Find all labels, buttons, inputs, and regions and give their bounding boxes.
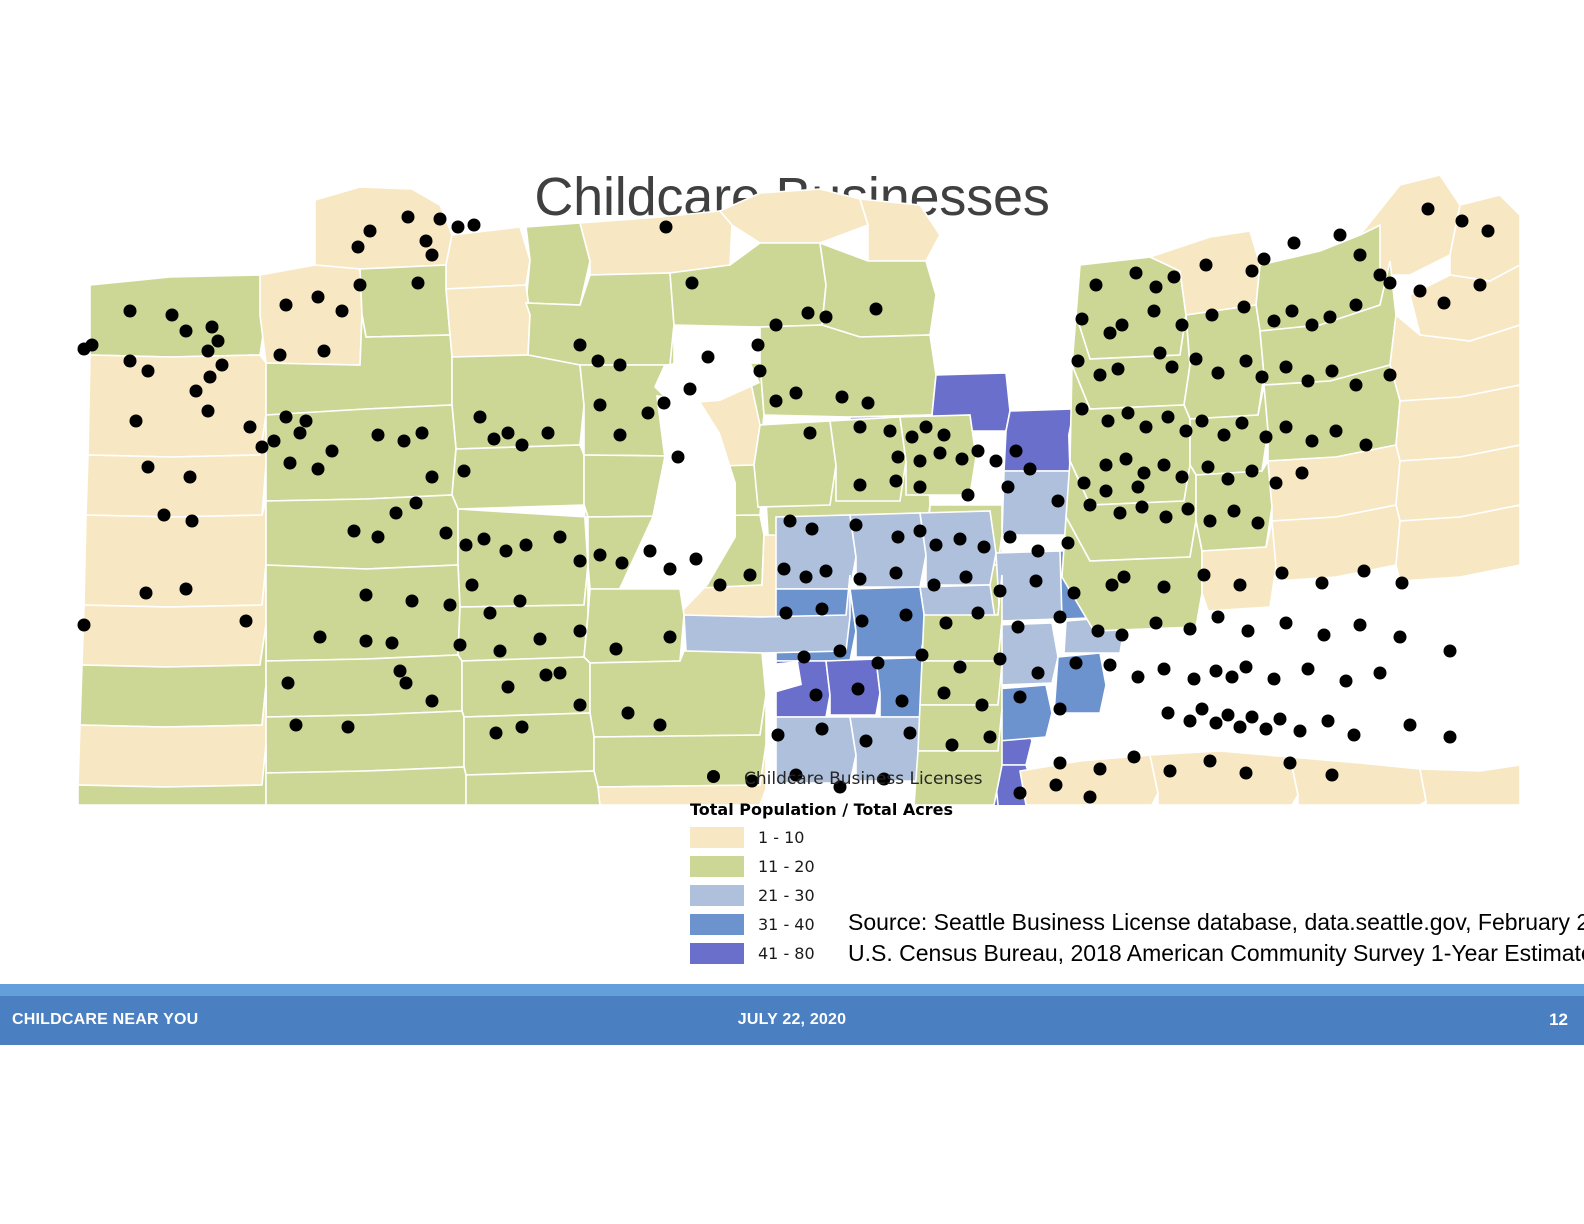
childcare-license-dot-icon xyxy=(707,770,720,783)
legend-label-1-10: 1 - 10 xyxy=(758,828,804,847)
legend-row-class-1: 1 - 10 xyxy=(690,823,1110,852)
legend-swatch-41-80 xyxy=(690,943,744,964)
legend-swatch-11-20 xyxy=(690,856,744,877)
legend-heading: Total Population / Total Acres xyxy=(690,800,1110,819)
source-note: Source: Seattle Business License databas… xyxy=(848,907,1548,969)
legend-row-class-3: 21 - 30 xyxy=(690,881,1110,910)
legend-swatch-31-40 xyxy=(690,914,744,935)
legend-row-class-2: 11 - 20 xyxy=(690,852,1110,881)
legend-swatch-21-30 xyxy=(690,885,744,906)
legend-label-11-20: 11 - 20 xyxy=(758,857,815,876)
map-svg xyxy=(60,165,1520,805)
slide-canvas: Childcare Businesses xyxy=(0,0,1584,1224)
legend-swatch-1-10 xyxy=(690,827,744,848)
legend-label-41-80: 41 - 80 xyxy=(758,944,815,963)
footer-page-number: 12 xyxy=(1549,1010,1568,1030)
footer-deck-title: CHILDCARE NEAR YOU xyxy=(12,1011,198,1029)
legend-label-21-30: 21 - 30 xyxy=(758,886,815,905)
legend-point-label: Childcare Business Licenses xyxy=(744,769,982,789)
legend-point-row: Childcare Business Licenses xyxy=(690,764,1110,794)
source-note-line-1: Source: Seattle Business License databas… xyxy=(848,907,1548,938)
legend-point-swatch xyxy=(690,770,736,788)
source-note-line-2: U.S. Census Bureau, 2018 American Commun… xyxy=(848,938,1548,969)
legend-label-31-40: 31 - 40 xyxy=(758,915,815,934)
footer-accent-strip xyxy=(0,984,1584,996)
footer-bar xyxy=(0,996,1584,1045)
choropleth-map xyxy=(60,165,1520,805)
